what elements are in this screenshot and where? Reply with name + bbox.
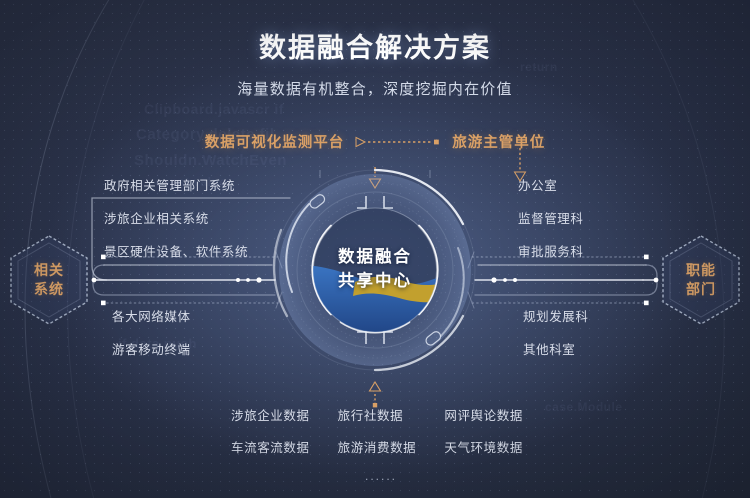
list-item[interactable]: 各大网络媒体: [112, 306, 191, 325]
list-item[interactable]: 审批服务科: [518, 241, 584, 260]
data-cell[interactable]: 车流客流数据: [231, 437, 318, 456]
list-item[interactable]: 政府相关管理部门系统: [104, 175, 248, 194]
triangle-up-icon: [367, 378, 383, 408]
list-item[interactable]: 规划发展科: [523, 306, 589, 325]
list-item[interactable]: 景区硬件设备、软件系统: [104, 241, 248, 260]
core-line2: 共享中心: [269, 270, 481, 294]
data-cell[interactable]: 旅游消费数据: [338, 437, 425, 456]
data-cell[interactable]: 涉旅企业数据: [231, 405, 318, 424]
right-departments-top-group: 办公室 监督管理科 审批服务科: [518, 175, 584, 260]
list-item[interactable]: 涉旅企业相关系统: [104, 208, 248, 227]
list-item[interactable]: 监督管理科: [518, 208, 584, 227]
list-item[interactable]: 其他科室: [523, 339, 589, 358]
core-hub[interactable]: 数据融合 共享中心: [269, 164, 481, 376]
list-item[interactable]: 办公室: [518, 175, 584, 194]
bottom-data-grid: 涉旅企业数据 旅行社数据 网评舆论数据 车流客流数据 旅游消费数据 天气环境数据…: [231, 405, 531, 483]
left-sources-top-group: 政府相关管理部门系统 涉旅企业相关系统 景区硬件设备、软件系统: [104, 175, 248, 260]
data-cell[interactable]: 旅行社数据: [338, 405, 425, 424]
core-label: 数据融合 共享中心: [269, 246, 481, 294]
list-item[interactable]: 游客移动终端: [112, 339, 191, 358]
table-row: 车流客流数据 旅游消费数据 天气环境数据: [231, 437, 531, 456]
infographic-canvas: Clipboard.javascr if Category.delete.fil…: [0, 0, 750, 498]
data-cell[interactable]: 天气环境数据: [444, 437, 531, 456]
right-departments-bottom-group: 规划发展科 其他科室: [523, 306, 589, 358]
left-sources-bottom-group: 各大网络媒体 游客移动终端: [112, 306, 191, 358]
core-line1: 数据融合: [269, 246, 481, 270]
table-row: 涉旅企业数据 旅行社数据 网评舆论数据: [231, 405, 531, 424]
ellipsis-label: ......: [231, 469, 531, 483]
data-cell[interactable]: 网评舆论数据: [444, 405, 531, 424]
